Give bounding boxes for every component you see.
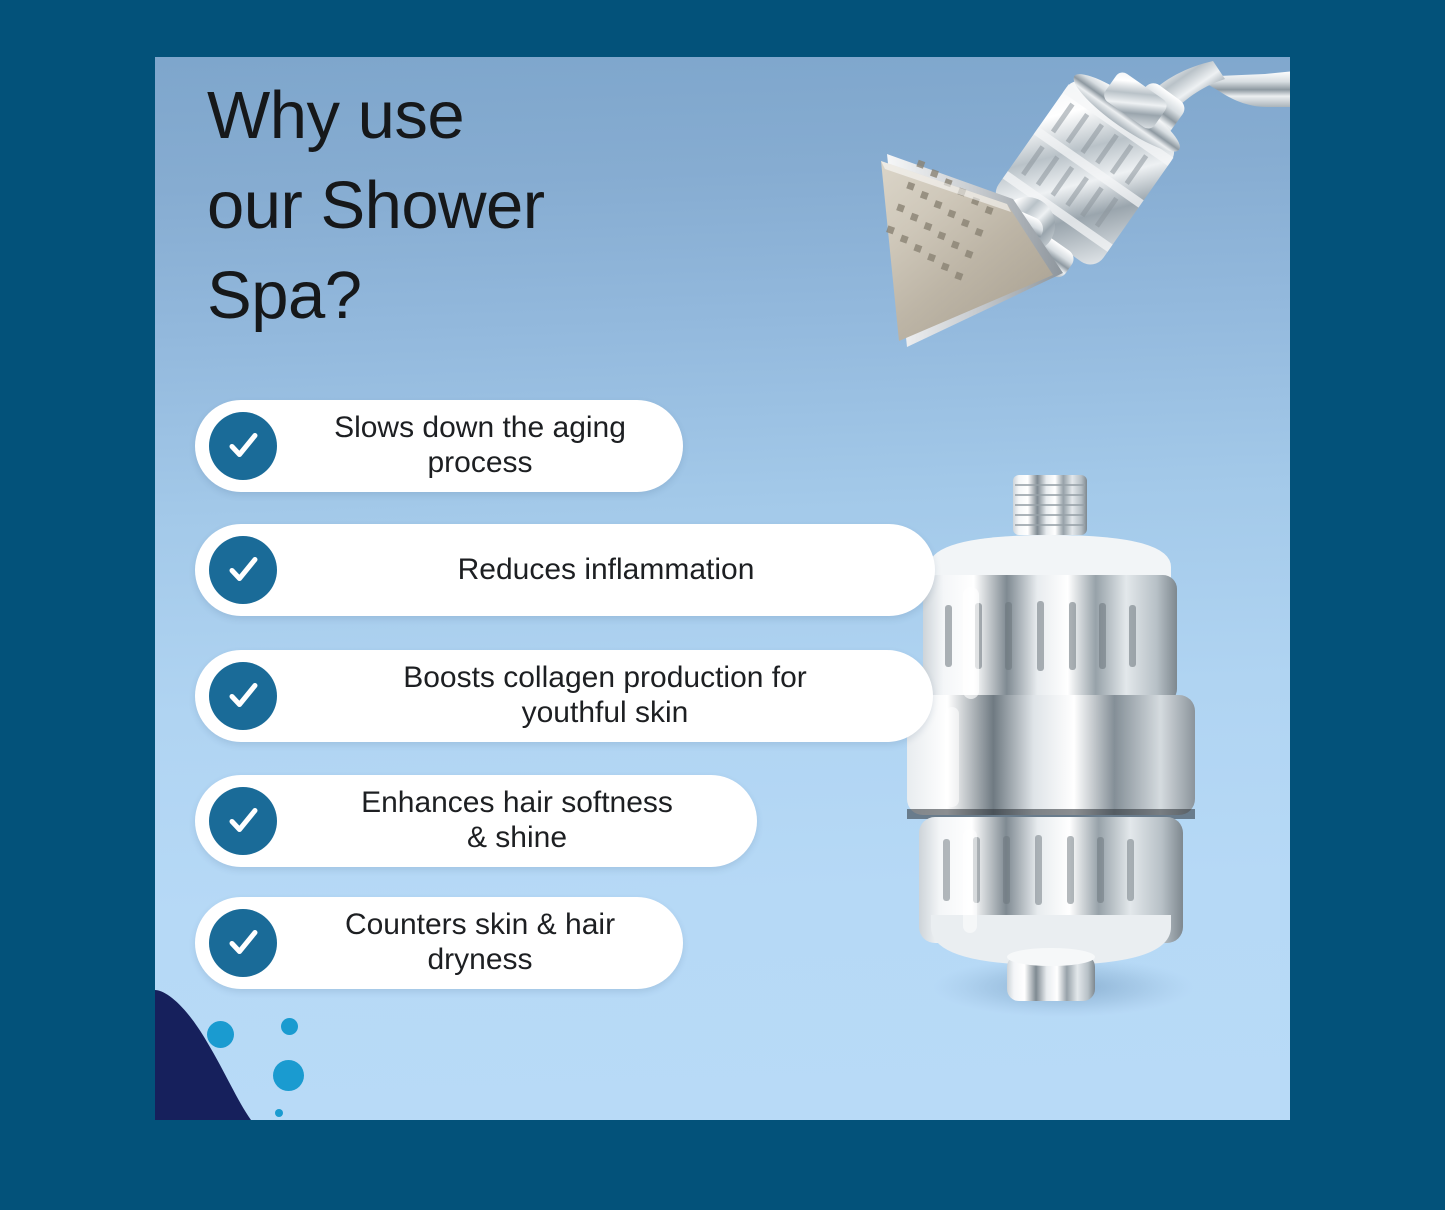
decorative-dot <box>275 1109 283 1117</box>
benefit-item[interactable]: Reduces inflammation <box>195 524 935 616</box>
decorative-dot <box>273 1060 304 1091</box>
check-icon <box>209 412 277 480</box>
corner-blob-decoration <box>155 990 355 1120</box>
benefit-label: Boosts collagen production for youthful … <box>295 661 915 731</box>
benefit-label: Counters skin & hair dryness <box>295 908 665 978</box>
benefit-item[interactable]: Enhances hair softness & shine <box>195 775 757 867</box>
check-icon <box>209 787 277 855</box>
promo-card: Why use our Shower Spa? <box>155 57 1290 1120</box>
page-title: Why use our Shower Spa? <box>207 71 767 340</box>
benefit-label: Enhances hair softness & shine <box>295 786 739 856</box>
benefit-item[interactable]: Counters skin & hair dryness <box>195 897 683 989</box>
showerhead-product-image <box>795 57 1290 394</box>
benefit-label: Reduces inflammation <box>295 553 917 588</box>
check-icon <box>209 662 277 730</box>
benefit-item[interactable]: Slows down the aging process <box>195 400 683 492</box>
promo-frame: Why use our Shower Spa? <box>0 0 1445 1210</box>
decorative-dot <box>281 1018 298 1035</box>
benefit-item[interactable]: Boosts collagen production for youthful … <box>195 650 933 742</box>
check-icon <box>209 909 277 977</box>
decorative-dot <box>207 1021 234 1048</box>
check-icon <box>209 536 277 604</box>
benefit-label: Slows down the aging process <box>295 411 665 481</box>
